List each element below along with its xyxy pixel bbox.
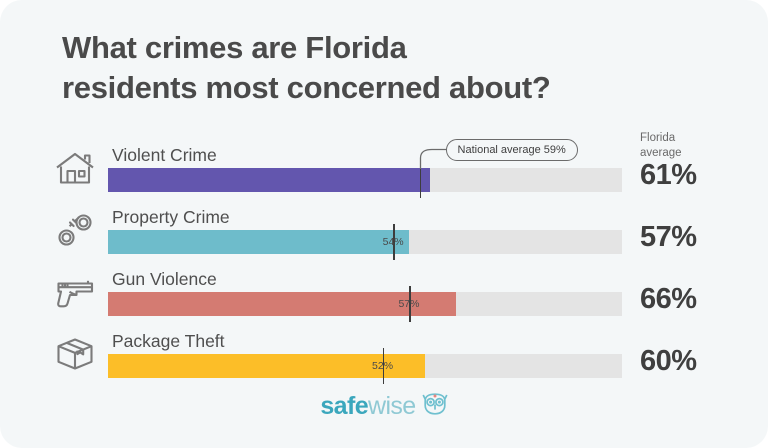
page-title: What crimes are Florida residents most c… — [62, 28, 702, 109]
bar-track: 52% — [108, 354, 622, 378]
house-icon — [52, 148, 100, 190]
bar-chart-rows: Violent CrimeNational average 59%61%Prop… — [0, 140, 768, 388]
infographic-card: What crimes are Florida residents most c… — [0, 0, 768, 448]
bar-track: 57% — [108, 292, 622, 316]
florida-average-value: 60% — [640, 345, 697, 378]
bar-track: 54% — [108, 230, 622, 254]
chart-row: Property Crime54%57% — [0, 202, 768, 264]
bar-track: National average 59% — [108, 168, 622, 192]
owl-icon — [422, 392, 448, 421]
bar-fill — [108, 230, 409, 254]
logo-text-safe: safe — [320, 392, 368, 420]
chart-row: Gun Violence57%66% — [0, 264, 768, 326]
safewise-logo: safewise — [0, 392, 768, 426]
title-line-1: What crimes are Florida — [62, 28, 702, 68]
row-label: Property Crime — [112, 207, 230, 228]
florida-average-value: 61% — [640, 159, 697, 192]
national-average-label: 54% — [383, 236, 404, 248]
national-average-callout: National average 59% — [446, 139, 578, 161]
handcuffs-icon — [52, 210, 100, 252]
florida-average-value: 66% — [640, 283, 697, 316]
handgun-icon — [52, 272, 100, 314]
chart-row: Violent CrimeNational average 59%61% — [0, 140, 768, 202]
florida-average-value: 57% — [640, 221, 697, 254]
logo-text-wise: wise — [368, 392, 416, 420]
package-box-icon — [52, 334, 100, 376]
row-label: Violent Crime — [112, 145, 217, 166]
title-line-2: residents most concerned about? — [62, 68, 702, 108]
national-average-label: 52% — [372, 360, 393, 372]
chart-row: Package Theft52%60% — [0, 326, 768, 388]
national-average-label: 57% — [398, 298, 419, 310]
bar-fill — [108, 168, 430, 192]
row-label: Package Theft — [112, 331, 225, 352]
row-label: Gun Violence — [112, 269, 217, 290]
